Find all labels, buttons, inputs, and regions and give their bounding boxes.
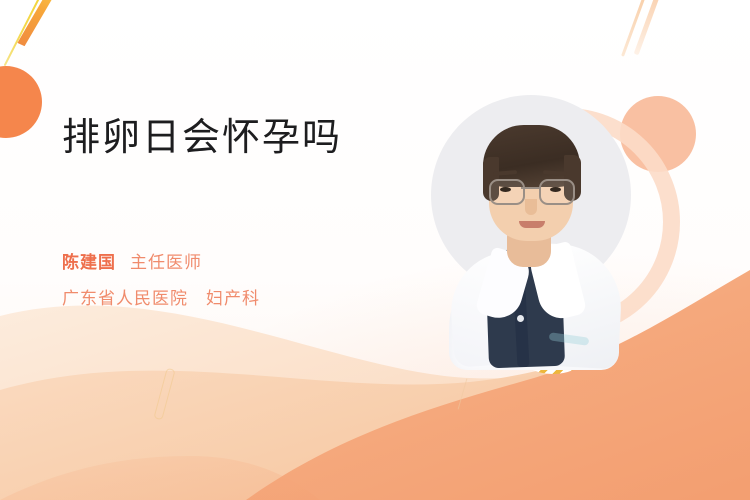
page-title: 排卵日会怀孕吗: [62, 112, 342, 164]
doctor-info-card: 排卵日会怀孕吗 陈建国主任医师 广东省人民医院 妇产科: [0, 0, 750, 500]
doctor-meta: 陈建国主任医师 广东省人民医院 妇产科: [62, 248, 260, 314]
doctor-portrait: [431, 95, 631, 360]
doctor-affiliation: 广东省人民医院 妇产科: [62, 284, 260, 314]
doctor-rank: 主任医师: [130, 253, 202, 272]
doctor-name-row: 陈建国主任医师: [62, 248, 260, 278]
doctor-name: 陈建国: [62, 253, 116, 272]
